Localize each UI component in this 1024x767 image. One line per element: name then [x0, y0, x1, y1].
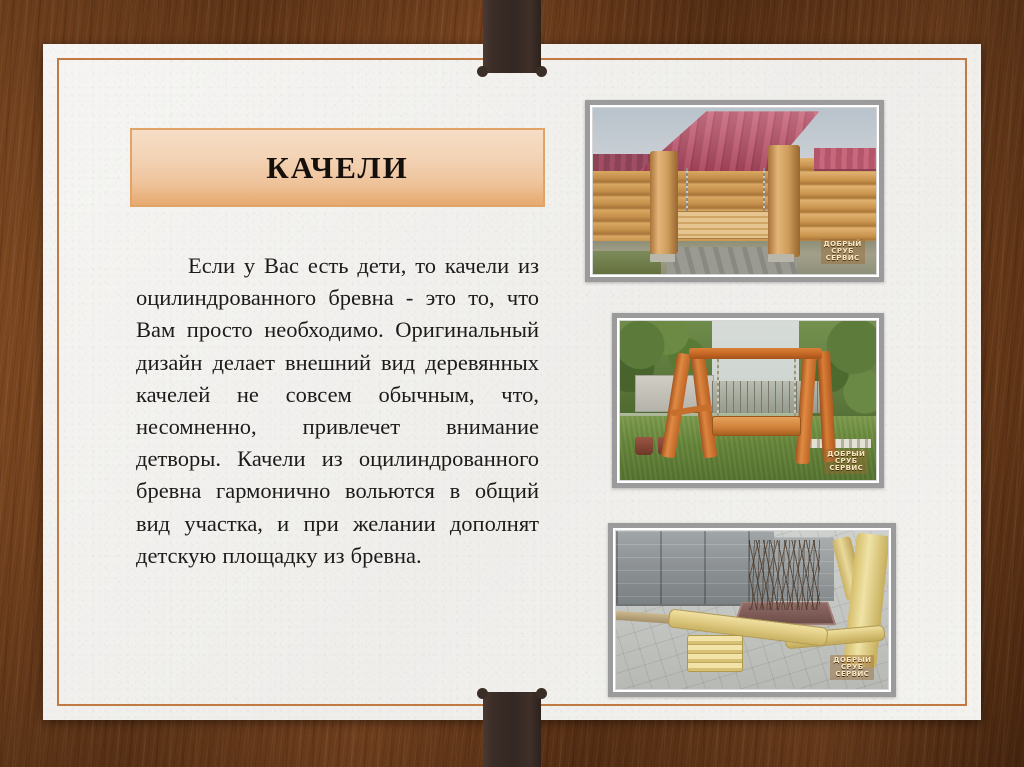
photo-canvas: ДОБРЫЙ СРУБ СЕРВИС [592, 107, 877, 275]
watermark: ДОБРЫЙ СРУБ СЕРВИС [830, 655, 874, 680]
photo-a-frame-swing: ДОБРЫЙ СРУБ СЕРВИС [612, 313, 884, 488]
watermark: ДОБРЫЙ СРУБ СЕРВИС [821, 239, 865, 264]
log-post-left [650, 151, 678, 254]
clip-foot-left [477, 688, 488, 699]
clip-foot-left [477, 66, 488, 77]
photo-canvas: ДОБРЫЙ СРУБ СЕРВИС [619, 320, 877, 481]
swing-rope-left [717, 359, 719, 419]
swing-rope-right [794, 359, 796, 419]
photo-log-seesaw: ДОБРЫЙ СРУБ СЕРВИС [608, 523, 896, 697]
post-footing-right [768, 254, 793, 262]
frame-top-beam [689, 348, 822, 359]
slide-title-box: КАЧЕЛИ [130, 128, 545, 207]
roof-right [814, 148, 876, 172]
presentation-slide: КАЧЕЛИ Если у Вас есть дети, то качели и… [0, 0, 1024, 767]
bed-edging [804, 439, 871, 449]
binder-clip-bottom-icon [483, 692, 541, 767]
log-post-right [768, 145, 799, 258]
photo-canvas: ДОБРЫЙ СРУБ СЕРВИС [615, 530, 889, 690]
photo-log-swing-pavilion: ДОБРЫЙ СРУБ СЕРВИС [585, 100, 884, 282]
bare-bush [749, 540, 820, 610]
swing-chain-right [763, 168, 765, 214]
page-title: КАЧЕЛИ [266, 150, 408, 186]
watermark: ДОБРЫЙ СРУБ СЕРВИС [824, 449, 868, 474]
clip-foot-right [536, 688, 547, 699]
swing-seat [712, 416, 801, 435]
post-footing-left [650, 254, 675, 262]
seesaw-pivot-logs [687, 635, 743, 672]
swing-chain-left [686, 168, 688, 214]
slide-body-text: Если у Вас есть дети, то качели из оцили… [136, 250, 539, 572]
swing-bench [675, 211, 776, 240]
binder-clip-top-icon [483, 0, 541, 73]
clip-foot-right [536, 66, 547, 77]
flower-pot-a [635, 437, 653, 454]
